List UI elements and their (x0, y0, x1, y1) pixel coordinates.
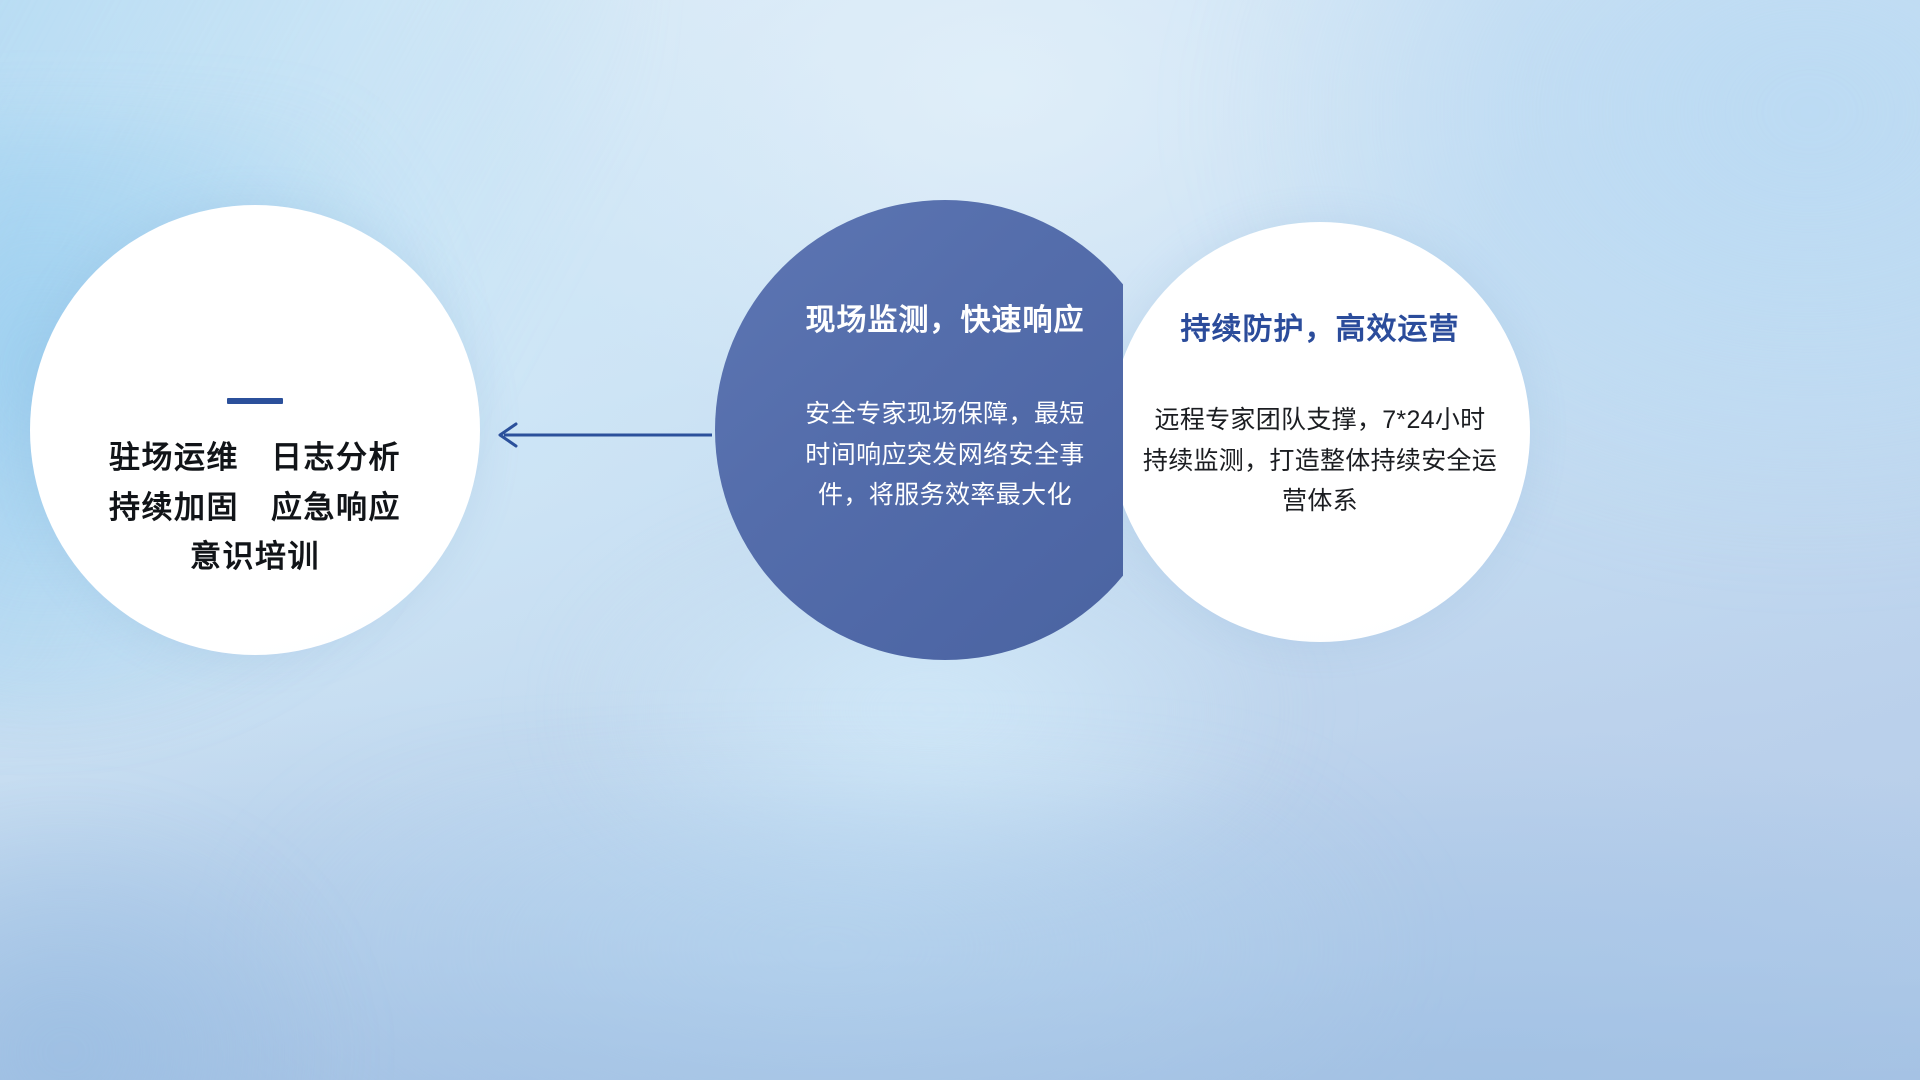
capability-circle-middle (715, 200, 1123, 660)
capability-item-onsite-ops: 驻场运维 (109, 440, 239, 476)
capability-item-continuous-hardening: 持续加固 (109, 490, 239, 526)
capability-circle-right: 持续防护，高效运营 远程专家团队支撑，7*24小时持续监测，打造整体持续安全运营… (1110, 222, 1530, 642)
dash-accent-icon (227, 398, 283, 404)
capability-item-emergency-response: 应急响应 (271, 490, 401, 526)
capability-row: 意识培训 (190, 539, 320, 575)
right-circle-body: 远程专家团队支撑，7*24小时持续监测，打造整体持续安全运营体系 (1142, 400, 1498, 522)
right-circle-title: 持续防护，高效运营 (1181, 304, 1460, 348)
capability-item-awareness-training: 意识培训 (190, 539, 320, 575)
diagram-canvas: 驻场运维 日志分析 持续加固 应急响应 意识培训 持续防护，高效运营 远程专家团… (0, 0, 1920, 1080)
arrow-left-icon (480, 415, 720, 455)
capability-item-log-analysis: 日志分析 (271, 440, 401, 476)
capability-row: 持续加固 应急响应 (109, 490, 401, 526)
capability-circle-left: 驻场运维 日志分析 持续加固 应急响应 意识培训 (30, 205, 480, 655)
circle-middle-fill (715, 200, 1123, 660)
capability-row: 驻场运维 日志分析 (109, 440, 401, 476)
capability-list: 驻场运维 日志分析 持续加固 应急响应 意识培训 (30, 440, 480, 575)
